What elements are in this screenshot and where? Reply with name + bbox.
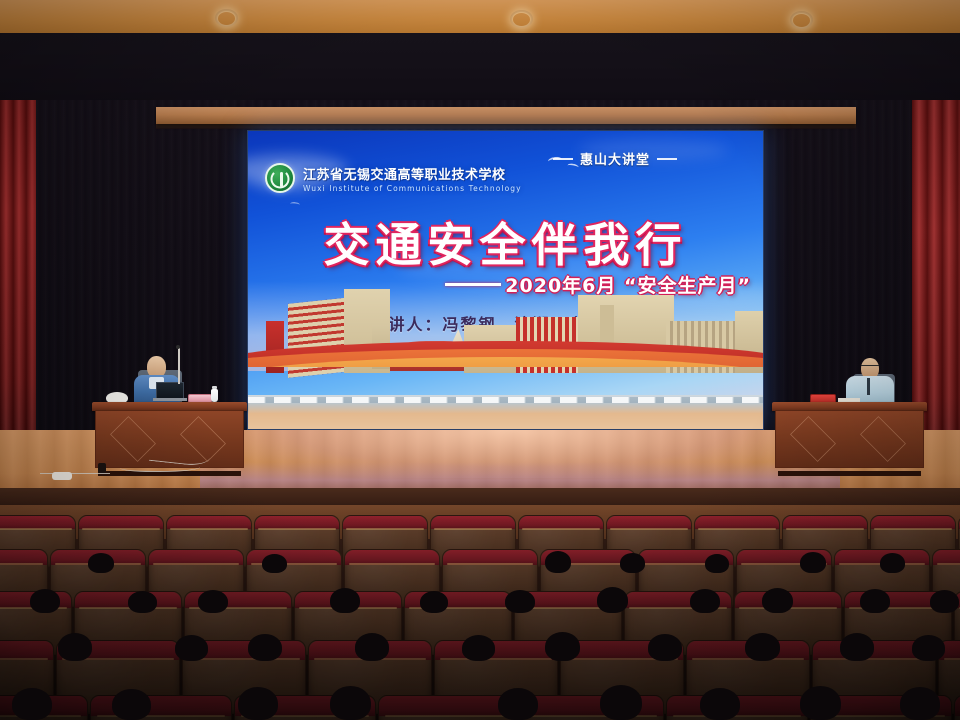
seat-trim (349, 563, 435, 565)
screen-foreground-base (248, 395, 763, 429)
slide-subtitle-text: 2020年6月 “安全生产月” (505, 271, 751, 298)
right-desk-legs (778, 471, 921, 476)
seat-trim (818, 658, 930, 660)
seat-trim (434, 528, 511, 530)
floor-connector (98, 463, 106, 473)
hall-banner: 惠山大讲堂 (553, 149, 677, 168)
seat-trim (522, 528, 599, 530)
slide-main-title: 交通安全伴我行 (248, 209, 763, 275)
seat-trim (440, 658, 552, 660)
screen-base-strip (248, 397, 763, 403)
audience-member-head (800, 552, 826, 573)
floor-cable-2 (120, 462, 200, 472)
seat-top-cushion (523, 696, 663, 716)
audience-member-head (175, 635, 208, 661)
seat-trim (673, 715, 802, 717)
floor-pedal-object (52, 472, 72, 480)
seat-trim (0, 528, 72, 530)
audience-member-head (545, 632, 580, 661)
seat-top-cushion (0, 641, 53, 660)
audience-member-head (58, 633, 92, 661)
audience-member-head (700, 688, 740, 720)
left-mic-stand (178, 348, 180, 384)
right-desk-panel-diamond-1 (790, 416, 836, 462)
seat-trim (0, 563, 43, 565)
lanyard-icon (867, 378, 870, 395)
auditorium-seat (954, 695, 960, 720)
seat-top-cushion (443, 550, 537, 565)
ceiling-downlight-3 (793, 14, 810, 27)
seat-trim (786, 528, 863, 530)
stage-valance-beam (156, 107, 856, 124)
seat-top-cushion (933, 550, 960, 565)
led-presentation-screen: 惠山大讲堂 江苏省无锡交通高等职业技术学校 Wuxi Institute of … (247, 130, 764, 430)
audience-member-head (30, 589, 60, 613)
auditorium-seat (522, 695, 664, 720)
seat-trim (447, 563, 533, 565)
audience-member-head (745, 633, 780, 661)
audience-member-head (800, 686, 841, 720)
audience-member-head (262, 554, 287, 573)
seat-trim (529, 715, 658, 717)
seat-trim (944, 658, 960, 660)
audience-member-head (860, 589, 890, 613)
audience-member-head (462, 635, 495, 661)
audience-member-head (12, 688, 52, 720)
seat-top-cushion (0, 550, 47, 565)
school-emblem-icon (265, 163, 295, 193)
seat-trim (170, 528, 247, 530)
seat-trim (82, 528, 159, 530)
audience-member-head (330, 588, 360, 613)
audience-member-head (597, 587, 628, 613)
audience-member-head (690, 589, 720, 613)
seat-trim (610, 528, 687, 530)
school-identity: 江苏省无锡交通高等职业技术学校 Wuxi Institute of Commun… (265, 163, 522, 193)
audience-member-head (930, 590, 959, 613)
seat-top-cushion (345, 550, 439, 565)
audience-seating-area (0, 505, 960, 720)
audience-member-head (912, 635, 945, 661)
ceiling-downlight-1 (218, 12, 235, 25)
seat-trim (692, 658, 804, 660)
audience-member-head (355, 633, 389, 661)
ceiling-downlight-2 (513, 13, 530, 26)
seat-top-cushion (955, 696, 960, 716)
audience-member-head (545, 551, 571, 573)
audience-member-head (330, 686, 371, 720)
audience-member-head (498, 688, 538, 720)
seat-trim (874, 528, 951, 530)
audience-member-head (248, 634, 282, 661)
right-desk-body (775, 410, 924, 468)
stage-floor-purple-reflection (200, 462, 840, 488)
audience-member-head (238, 687, 278, 720)
hall-dash-left-icon (553, 158, 573, 160)
left-laptop-screen (156, 382, 184, 399)
seat-trim (258, 528, 335, 530)
seat-trim (188, 658, 300, 660)
subtitle-dash-icon (445, 283, 501, 286)
audience-member-head (705, 554, 729, 573)
red-curtain-left (0, 100, 36, 472)
seat-back (954, 695, 960, 720)
auditorium-photo: 惠山大讲堂 江苏省无锡交通高等职业技术学校 Wuxi Institute of … (0, 0, 960, 720)
right-presenter-desk (772, 402, 927, 472)
audience-member-head (648, 634, 682, 661)
audience-member-head (762, 588, 793, 613)
audience-member-head (620, 553, 645, 573)
seat-trim (346, 528, 423, 530)
audience-member-head (420, 591, 448, 613)
audience-member-head (505, 590, 535, 613)
seat-trim (937, 563, 960, 565)
seat-back (522, 695, 664, 720)
hall-banner-text: 惠山大讲堂 (580, 149, 650, 168)
audience-member-head (112, 689, 151, 720)
left-water-bottle (211, 389, 218, 402)
seat-trim (698, 528, 775, 530)
glasses-icon (861, 365, 879, 369)
seat-trim (0, 658, 48, 660)
audience-member-head (88, 553, 114, 573)
left-bottle-cap (212, 386, 217, 389)
seat-trim (153, 563, 239, 565)
bird-icon-3 (290, 202, 300, 208)
seat-trim (385, 715, 514, 717)
left-mic-head-icon (176, 345, 180, 349)
slide-subtitle: 2020年6月 “安全生产月” (445, 271, 751, 298)
school-name-en: Wuxi Institute of Communications Technol… (303, 184, 522, 193)
campus-skyline-graphic (248, 299, 763, 395)
left-laptop-base (153, 398, 187, 401)
audience-member-head (128, 591, 157, 613)
audience-member-head (840, 633, 874, 661)
school-name-cn: 江苏省无锡交通高等职业技术学校 (303, 164, 522, 183)
ceiling (0, 0, 960, 34)
red-wave-band (248, 331, 763, 367)
right-desk-panel-diamond-2 (860, 416, 906, 462)
audience-member-head (900, 687, 940, 720)
hall-dash-right-icon (657, 158, 677, 160)
audience-member-head (880, 553, 905, 573)
seat-top-cushion (149, 550, 243, 565)
seat-top-cushion (435, 641, 557, 660)
audience-member-head (198, 590, 228, 613)
audience-member-head (600, 685, 642, 720)
